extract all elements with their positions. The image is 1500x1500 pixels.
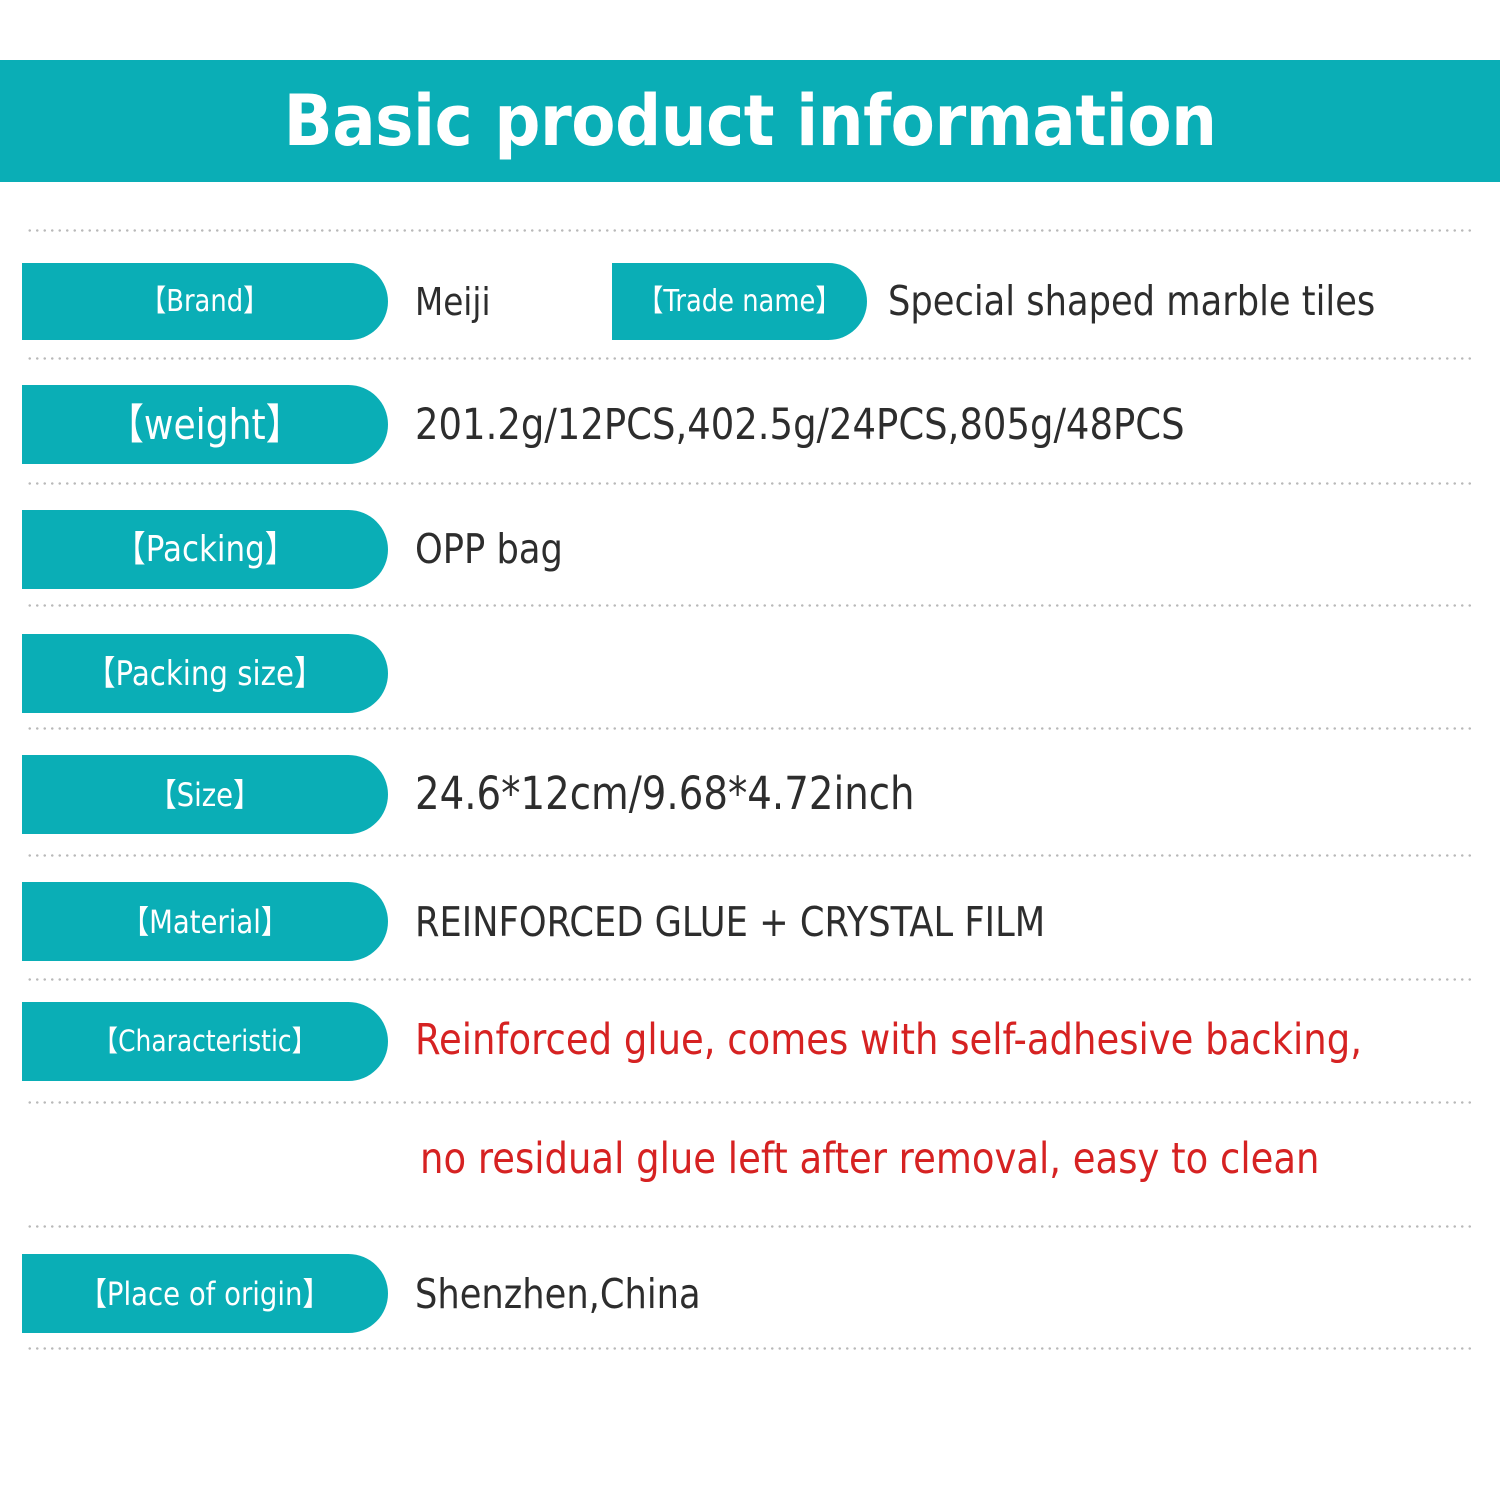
row-divider [26,357,1472,360]
spec-row-packing: 【Packing】 OPP bag [0,510,1500,589]
row-divider [26,229,1472,232]
spec-value-place-of-origin: Shenzhen,China [415,1274,701,1315]
spec-value-material: REINFORCED GLUE + CRYSTAL FILM [415,902,1045,943]
spec-row-size: 【Size】 24.6*12cm/9.68*4.72inch [0,755,1500,834]
spec-label-text: 【weight】 [108,404,302,446]
row-divider [26,1225,1472,1228]
spec-label-pill-packing-size: 【Packing size】 [22,634,388,713]
spec-row-weight: 【weight】 201.2g/12PCS,402.5g/24PCS,805g/… [0,385,1500,464]
row-divider [26,1347,1472,1350]
spec-label-pill-brand: 【Brand】 [22,263,388,340]
spec-label-text: 【Brand】 [141,287,269,317]
spec-value-brand: Meiji [415,283,491,321]
spec-value-characteristic-line2: no residual glue left after removal, eas… [420,1138,1319,1181]
spec-label-text: 【Material】 [122,906,289,938]
spec-label-pill-weight: 【weight】 [22,385,388,464]
spec-value-packing: OPP bag [415,529,563,570]
spec-label-pill-characteristic: 【Characteristic】 [22,1002,388,1081]
spec-label-text: 【Packing】 [114,532,295,568]
spec-label-text: 【Packing size】 [87,657,324,691]
spec-label-pill-size: 【Size】 [22,755,388,834]
spec-label-pill-material: 【Material】 [22,882,388,961]
spec-row-characteristic-cont: no residual glue left after removal, eas… [0,1122,1500,1201]
spec-row-characteristic: 【Characteristic】 Reinforced glue, comes … [0,1002,1500,1081]
spec-value-trade-name: Special shaped marble tiles [888,281,1375,322]
row-divider [26,604,1472,607]
spec-label-pill-place-of-origin: 【Place of origin】 [22,1254,388,1333]
spec-row-packing-size: 【Packing size】 [0,634,1500,713]
row-divider [26,482,1472,485]
row-divider [26,727,1472,730]
row-divider [26,1101,1472,1104]
row-divider [26,978,1472,981]
spec-row-place-of-origin: 【Place of origin】 Shenzhen,China [0,1254,1500,1333]
header-banner: Basic product information [0,60,1500,182]
spec-label-text: 【Place of origin】 [80,1278,331,1310]
spec-row-material: 【Material】 REINFORCED GLUE + CRYSTAL FIL… [0,882,1500,961]
spec-label-pill-trade-name: 【Trade name】 [612,263,867,340]
spec-label-text: 【Characteristic】 [93,1027,316,1056]
spec-value-size: 24.6*12cm/9.68*4.72inch [415,771,915,816]
spec-label-text: 【Size】 [149,779,261,811]
spec-label-text: 【Trade name】 [638,287,842,317]
page-title: Basic product information [284,86,1217,156]
spec-value-weight: 201.2g/12PCS,402.5g/24PCS,805g/48PCS [415,404,1185,447]
spec-row-brand: 【Brand】 Meiji 【Trade name】 Special shape… [0,263,1500,340]
row-divider [26,854,1472,857]
spec-value-characteristic-line1: Reinforced glue, comes with self-adhesiv… [415,1019,1362,1062]
spec-label-pill-packing: 【Packing】 [22,510,388,589]
